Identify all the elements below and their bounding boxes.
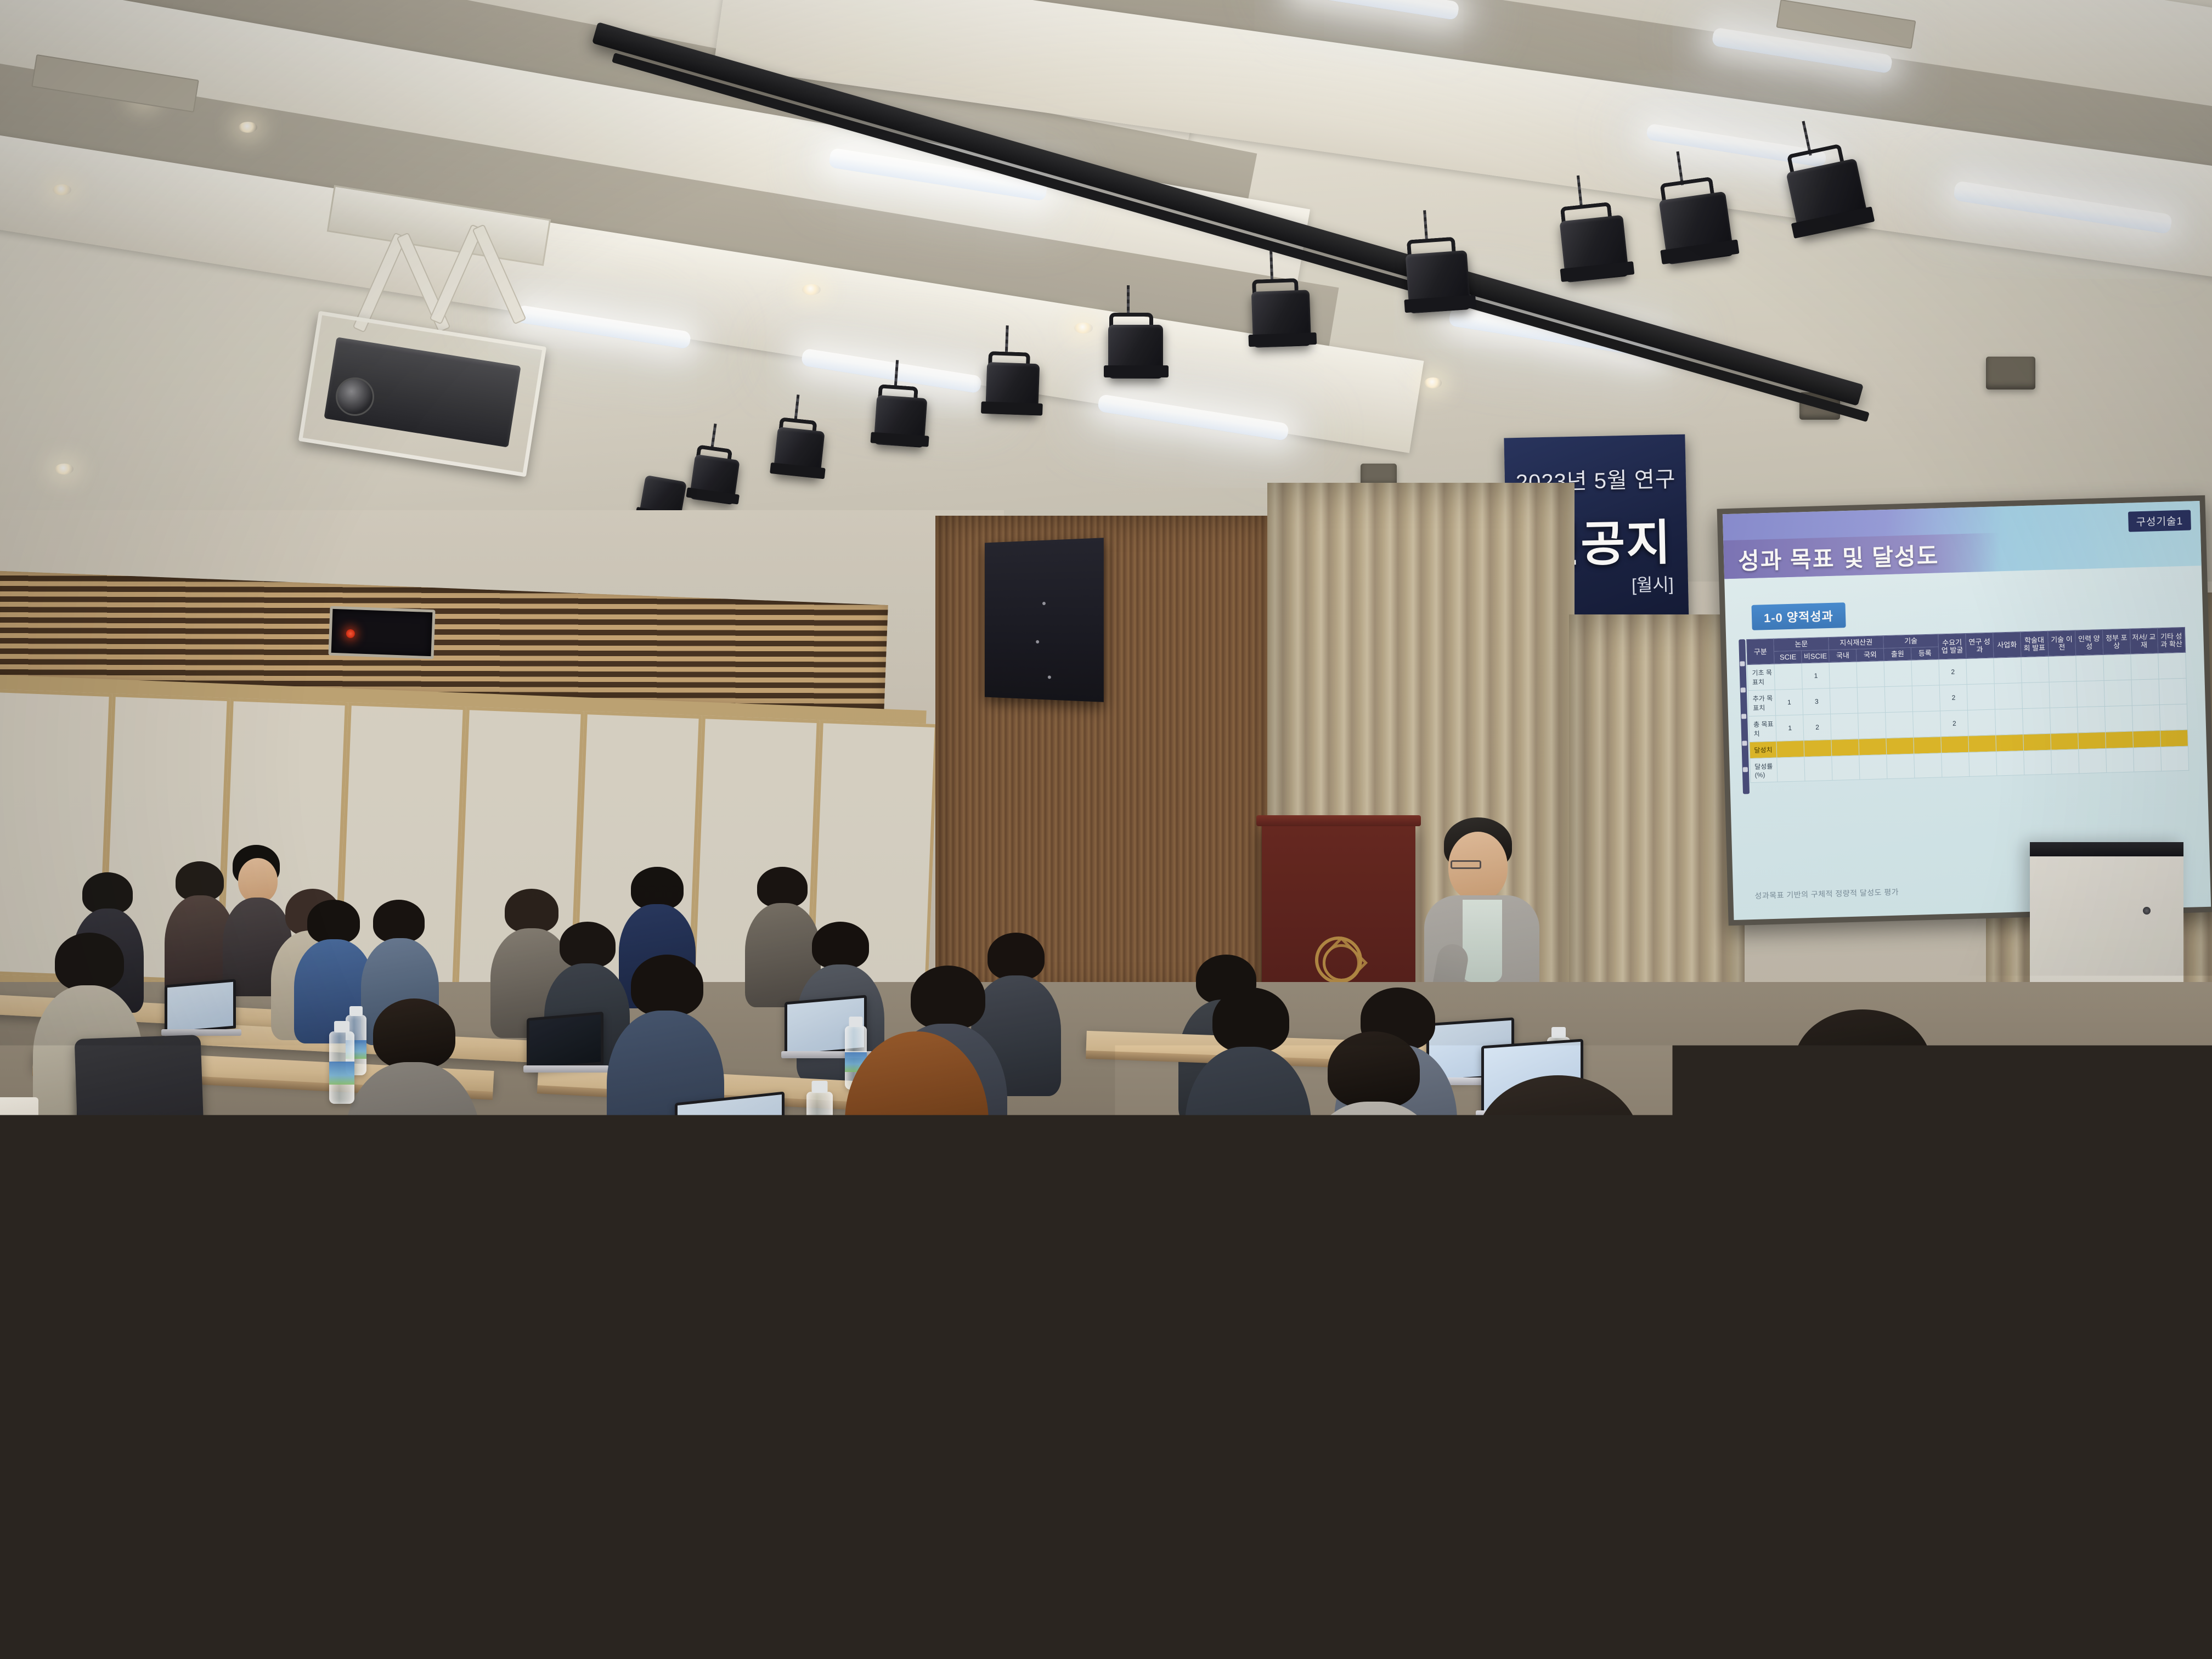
screen-window	[1180, 1226, 1251, 1262]
bottle-cap	[334, 1021, 349, 1032]
screen-sidebar	[1171, 1203, 1179, 1230]
table-cell: 1	[1775, 689, 1803, 715]
table-cell	[2104, 706, 2132, 732]
slide-title: 성과 목표 및 달성도	[1723, 537, 1939, 577]
table-group-header: 지식재산권	[1829, 636, 1883, 650]
screen-window	[1180, 1182, 1257, 1223]
table-cell	[2022, 682, 2050, 708]
wall-mounted-speaker	[985, 538, 1104, 702]
bottle-label	[806, 1124, 833, 1148]
table-cell	[1913, 711, 1941, 737]
table-cell	[1804, 740, 1832, 757]
attendee-hair	[812, 922, 869, 969]
table-cell	[2160, 746, 2188, 771]
bottle-cap	[2093, 1500, 2115, 1515]
banner-line-3: [월시]	[1631, 571, 1674, 597]
table-row-label: 달성치	[1749, 741, 1777, 758]
recessed-downlight	[802, 284, 821, 295]
rack-knob	[2143, 907, 2151, 915]
eyeglass-case[interactable]	[568, 1456, 650, 1515]
table-cell	[2133, 730, 2161, 747]
attendee-hair	[757, 867, 808, 907]
table-cell: 1	[1776, 714, 1804, 741]
table-cell: 2	[1939, 658, 1967, 685]
performance-table: 구분논문지식재산권기술수요기업 발굴연구 성과사업화학술대회 발표기술 이전인력…	[1746, 627, 2189, 783]
projector-lens	[336, 377, 374, 416]
table-group-header: 학술대회 발표	[2021, 631, 2049, 657]
table-cell	[1832, 755, 1860, 780]
slide-tag-badge: 구성기술1	[2128, 510, 2191, 532]
rack-top-panel	[2030, 842, 2183, 856]
presenter-shirt	[1463, 900, 1502, 982]
table-cell	[1968, 735, 1996, 752]
light-chain	[1127, 285, 1130, 315]
led-clock-display	[328, 606, 435, 659]
attendee-hair	[373, 900, 425, 943]
laptop-base	[161, 1029, 241, 1036]
table-cell	[1914, 737, 1942, 754]
table-cell: 3	[1803, 688, 1831, 714]
table-sub-header: SCIE	[1774, 651, 1802, 664]
attendee-hair	[631, 867, 684, 910]
table-row-label: 총 목표치	[1748, 715, 1776, 742]
table-cell	[2160, 730, 2188, 747]
table-cell: 1	[1802, 662, 1830, 689]
ceiling-speaker	[1986, 357, 2035, 390]
table-cell: 2	[1940, 710, 1968, 736]
table-cell	[2023, 733, 2051, 751]
bottle-label	[1125, 1199, 1154, 1227]
attendee-hair	[560, 922, 616, 968]
table-cell	[1831, 739, 1859, 756]
table-group-header: 사업화	[1993, 632, 2021, 658]
table-cell	[1966, 658, 1994, 684]
table-cell	[2076, 654, 2104, 681]
attendee-hair	[1212, 988, 1289, 1052]
table-cell	[1886, 737, 1914, 754]
attendee-hair	[55, 933, 124, 991]
table-group-header: 인력 양성	[2075, 630, 2103, 656]
glasses-icon	[1451, 860, 1481, 869]
table-cell	[2131, 679, 2159, 705]
bottle-cap	[849, 1017, 863, 1027]
bottle-cap	[607, 1295, 633, 1312]
table-body: 기초 목표치12추가 목표치132총 목표치122달성치달성률(%)	[1747, 652, 2189, 782]
attendee-hair	[631, 955, 703, 1016]
table-cell	[1858, 686, 1886, 713]
table-cell	[2132, 704, 2160, 731]
water-bottle[interactable]	[1125, 1163, 1154, 1250]
chair[interactable]	[940, 1259, 1128, 1473]
water-bottle[interactable]	[2085, 1514, 2123, 1624]
table-cell	[1857, 661, 1884, 687]
recessed-downlight	[53, 184, 71, 195]
table-group-header: 기술 이전	[2048, 630, 2076, 656]
laptop-lid	[1827, 1320, 2123, 1533]
table-cell	[1942, 752, 1970, 777]
light-barndoor	[981, 402, 1043, 416]
table-cell: 2	[1939, 684, 1967, 710]
table-cell	[1995, 708, 2023, 735]
table-cell	[2159, 678, 2187, 704]
attendee-hair	[66, 1251, 230, 1388]
chair-foreground[interactable]	[0, 1558, 208, 1659]
recessed-downlight	[1074, 323, 1093, 334]
water-bottle[interactable]	[806, 1092, 833, 1167]
table-cell	[2022, 708, 2050, 734]
table-cell	[1968, 709, 1996, 736]
table-group-header: 수요기업 발굴	[1938, 634, 1966, 659]
table-group-header-row: 구분논문지식재산권기술수요기업 발굴연구 성과사업화학술대회 발표기술 이전인력…	[1746, 628, 2185, 652]
laptop-screen	[529, 1014, 601, 1068]
table-sub-header: 국외	[1857, 648, 1884, 662]
table-cell	[2159, 704, 2187, 730]
table-row-label: 달성률(%)	[1750, 758, 1778, 782]
chair[interactable]	[75, 1035, 206, 1182]
table-cell	[1884, 660, 1912, 686]
laptop-lid	[527, 1012, 603, 1071]
table-group-header: 연구 성과	[1966, 633, 1994, 659]
laptop-screen	[1830, 1323, 2120, 1530]
light-barndoor	[1248, 332, 1317, 347]
bottle-cap	[1551, 1027, 1566, 1038]
table-group-header: 기술	[1883, 634, 1938, 648]
table-cell	[2133, 747, 2161, 771]
attendee-hair	[82, 872, 133, 914]
table-group-header: 구분	[1746, 639, 1774, 665]
clock-power-led	[346, 629, 356, 639]
table-group-header: 저서/ 교재	[2130, 628, 2158, 654]
table-cell	[2078, 732, 2106, 749]
slide-title-band: 성과 목표 및 달성도	[1723, 533, 2001, 579]
attendee-torso	[1383, 1198, 1767, 1659]
attendee-hair	[1328, 1031, 1420, 1108]
table-group-header: 정부 포상	[2102, 629, 2130, 655]
attendee-hair	[911, 966, 985, 1029]
table-cell	[1885, 686, 1913, 712]
table-cell	[1887, 754, 1915, 778]
laptop-screen	[678, 1094, 782, 1175]
laptop-base	[669, 1169, 792, 1178]
table-cell	[2021, 656, 2049, 682]
table-cell	[1886, 712, 1914, 738]
table-cell	[2106, 731, 2134, 748]
table-cell	[1911, 659, 1939, 686]
ceiling	[0, 0, 2212, 582]
bottle-cap	[1131, 1151, 1148, 1164]
bottle-cap	[1796, 1183, 1815, 1197]
table-cell	[2049, 681, 2077, 708]
table-sub-header: 비SCIE	[1802, 650, 1830, 663]
table-cell	[1774, 663, 1802, 690]
table-cell	[1777, 757, 1805, 781]
table-cell	[1776, 740, 1804, 757]
document-page[interactable]	[2029, 1260, 2163, 1313]
glass-jar[interactable]	[477, 1317, 527, 1437]
table-cell	[2051, 733, 2079, 750]
table-sub-header: 국내	[1829, 649, 1857, 662]
table-cell	[1914, 753, 1942, 777]
table-cell	[1994, 657, 2022, 683]
recessed-downlight	[1424, 377, 1442, 388]
table-cell	[2049, 656, 2076, 682]
table-row-label: 추가 목표치	[1748, 690, 1776, 716]
table-cell	[2131, 653, 2159, 679]
table-row-label: 기초 목표치	[1747, 664, 1775, 690]
table-cell	[2079, 748, 2107, 773]
note-page-on-screen	[1849, 1346, 2035, 1499]
table-cell	[1804, 756, 1832, 781]
laptop-lid	[675, 1091, 785, 1177]
table-group-header: 논문	[1774, 637, 1829, 651]
attendee-hair	[373, 998, 455, 1069]
table-cell	[1969, 752, 1997, 776]
table-cell	[2158, 652, 2186, 679]
table-cell	[1996, 734, 2024, 751]
bottle-label	[329, 1062, 354, 1085]
bottle-label	[598, 1365, 642, 1403]
table-cell	[1912, 685, 1940, 712]
table-sub-header: 등록	[1911, 647, 1939, 660]
chair-foreground[interactable]	[1086, 1476, 1372, 1659]
laptop-base	[523, 1065, 609, 1073]
attendee-hair	[1794, 1009, 1931, 1119]
auditorium-scene: 2023년 5월 연구 인공지 [월시] 성과 목표 및 달성도 구성기술1 1…	[0, 0, 2212, 1659]
table-cell	[2103, 654, 2131, 680]
table-cell	[1996, 751, 2024, 775]
table-cell	[2104, 680, 2132, 706]
recessed-downlight	[239, 122, 257, 133]
jar-contents	[479, 1395, 525, 1436]
table-sub-header: 출원	[1884, 647, 1912, 661]
bottle-cap	[349, 1006, 363, 1016]
table-cell	[2077, 706, 2105, 732]
attendee-hair	[1476, 1075, 1640, 1212]
laptop-lid	[165, 979, 236, 1034]
table-cell	[2106, 748, 2134, 772]
table-cell	[1967, 684, 1995, 710]
table-cell	[2051, 749, 2079, 774]
table-cell	[1941, 736, 1969, 753]
bottle-cap	[812, 1081, 828, 1093]
recessed-downlight	[55, 464, 74, 475]
table-group-header: 기타 성과 확산	[2157, 628, 2185, 653]
table-cell	[1859, 754, 1887, 779]
table-cell	[2024, 750, 2052, 775]
laptop-screen	[167, 982, 233, 1031]
attendee-hair	[988, 933, 1045, 980]
water-bottle[interactable]	[329, 1031, 354, 1104]
table-cell	[1829, 662, 1857, 688]
bottle-label	[2085, 1560, 2123, 1594]
attendee-head	[238, 858, 278, 903]
table-cell	[1994, 682, 2022, 709]
table-cell	[1831, 713, 1859, 740]
podium-top-surface	[1256, 815, 1421, 826]
table-cell	[1859, 738, 1887, 755]
coffee-cup[interactable]	[0, 1097, 38, 1158]
light-barndoor	[1104, 365, 1169, 377]
slide-section-chip: 1-0 양적성과	[1751, 602, 1846, 630]
bottle-label	[1788, 1237, 1822, 1267]
attendee-hair	[505, 889, 558, 933]
slide-footer-note: 성과목표 기반의 구체적 정량적 달성도 평가	[1754, 886, 1899, 901]
table-cell	[1830, 687, 1858, 714]
table-cell	[1858, 712, 1886, 738]
table-cell: 2	[1803, 714, 1831, 740]
attendee-hair	[307, 900, 360, 944]
table-cell	[2050, 707, 2078, 733]
table-cell	[2076, 680, 2104, 707]
water-bottle[interactable]	[598, 1311, 642, 1437]
podium-emblem-icon	[1315, 936, 1362, 984]
